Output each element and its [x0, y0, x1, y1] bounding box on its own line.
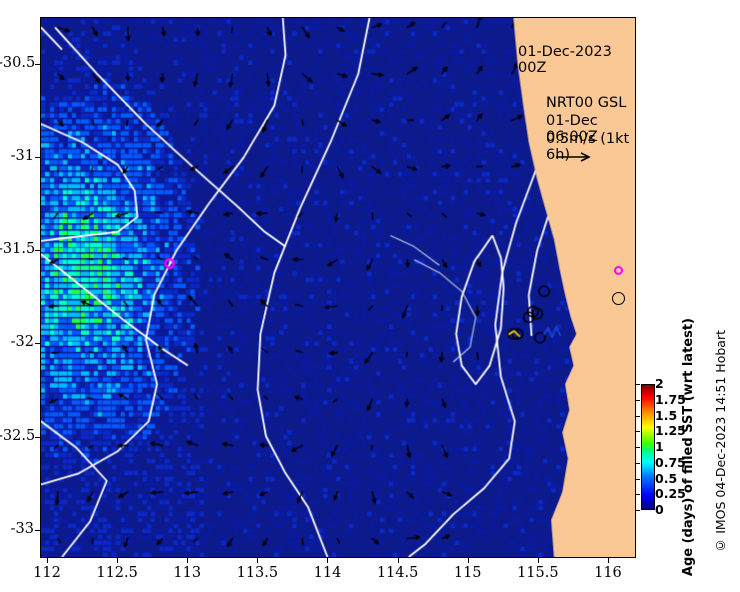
y-tick-label: -31.5 — [0, 241, 34, 257]
y-tickmark — [35, 343, 40, 344]
colorbar-gradient — [641, 384, 655, 510]
colorbar-tickmark — [636, 416, 640, 417]
x-tickmark — [257, 558, 258, 563]
x-tickmark — [117, 558, 118, 563]
ship-legend-marker-icon — [612, 292, 625, 305]
x-tick-label: 113.5 — [227, 565, 287, 581]
x-tickmark — [398, 558, 399, 563]
x-tick-label: 114 — [297, 565, 357, 581]
x-tick-label: 112 — [17, 565, 77, 581]
x-tick-label: 113 — [157, 565, 217, 581]
colorbar-tick-label: 1 — [655, 439, 664, 454]
x-tickmark — [187, 558, 188, 563]
date-stamp: 01-Dec-2023 00Z — [518, 44, 635, 76]
y-tick-label: -31 — [0, 148, 34, 164]
copyright-notice: © IMOS 04-Dec-2023 14:51 Hobart — [713, 330, 728, 553]
colorbar-tickmark — [636, 479, 640, 480]
y-tick-label: -30.5 — [0, 55, 34, 71]
y-tickmark — [35, 64, 40, 65]
colorbar-tick-label: 0 — [655, 502, 664, 517]
colorbar-tickmark — [636, 447, 640, 448]
current-source-label: NRT00 GSL — [546, 95, 626, 111]
argo-legend-marker-icon — [614, 266, 623, 275]
x-tickmark — [538, 558, 539, 563]
colorbar-tickmark — [636, 384, 640, 385]
x-tickmark — [47, 558, 48, 563]
x-tick-label: 115 — [438, 565, 498, 581]
colorbar-tick-label: 2 — [655, 376, 664, 391]
x-tick-label: 116 — [578, 565, 638, 581]
figure-root: 01-Dec-2023 00Z 200m 1000m NRT00 GSL 01-… — [0, 0, 740, 592]
right-arrow-icon — [555, 151, 593, 163]
x-tickmark — [468, 558, 469, 563]
map-plot-area[interactable]: 01-Dec-2023 00Z 200m 1000m NRT00 GSL 01-… — [40, 17, 636, 558]
colorbar-tickmark — [636, 463, 640, 464]
x-tick-label: 112.5 — [87, 565, 147, 581]
colorbar-title: Age (days) of filled SST (wrt latest) — [681, 318, 696, 576]
x-tick-label: 114.5 — [368, 565, 428, 581]
colorbar-tick-label: 0.5 — [655, 471, 677, 486]
y-tickmark — [35, 157, 40, 158]
colorbar-tickmark — [636, 494, 640, 495]
y-tickmark — [35, 250, 40, 251]
x-tick-label: 115.5 — [508, 565, 568, 581]
y-tickmark — [35, 437, 40, 438]
y-tickmark — [35, 530, 40, 531]
colorbar-tickmark — [636, 400, 640, 401]
y-tick-label: -32.5 — [0, 428, 34, 444]
x-tickmark — [608, 558, 609, 563]
colorbar-tickmark — [636, 510, 640, 511]
colorbar-tickmark — [636, 431, 640, 432]
x-tickmark — [327, 558, 328, 563]
colorbar-tick-label: 1.5 — [655, 408, 677, 423]
y-tick-label: -32 — [0, 334, 34, 350]
y-tick-label: -33 — [0, 521, 34, 537]
